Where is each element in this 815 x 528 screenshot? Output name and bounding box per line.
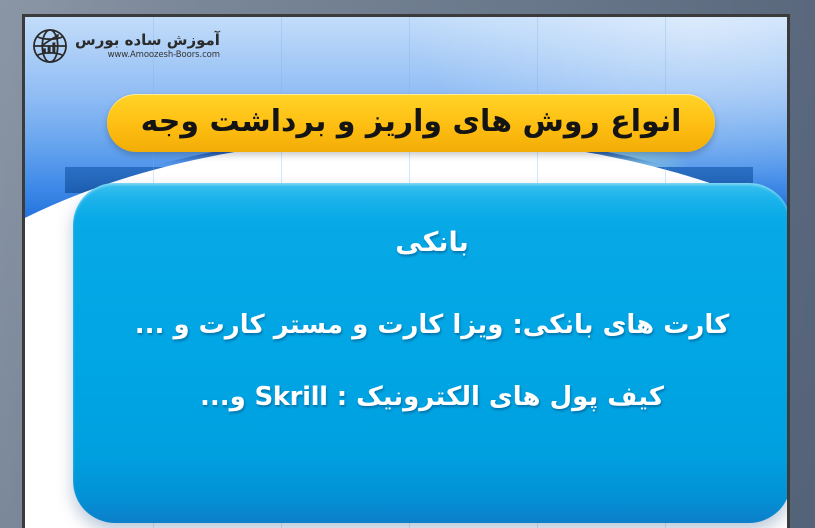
brand-website: www.Amoozesh-Boors.com — [108, 51, 220, 60]
brand-name: آموزش ساده بورس — [75, 33, 220, 48]
slide-title: انواع روش های واریز و برداشت وجه — [141, 104, 682, 143]
brand-logo[interactable]: آموزش ساده بورس www.Amoozesh-Boors.com — [31, 27, 220, 65]
card-heading: بانکی — [395, 227, 468, 258]
desktop-frame: آموزش ساده بورس www.Amoozesh-Boors.com ا… — [0, 0, 815, 528]
content-card: بانکی کارت های بانکی: ویزا کارت و مستر ک… — [73, 183, 790, 523]
slide-title-banner: انواع روش های واریز و برداشت وجه — [107, 94, 715, 152]
presentation-slide: آموزش ساده بورس www.Amoozesh-Boors.com ا… — [22, 14, 790, 528]
card-bullet-2: کیف پول های الکترونیک : Skrill و... — [200, 382, 664, 412]
globe-chart-icon — [31, 27, 69, 65]
card-bullet-1: کارت های بانکی: ویزا کارت و مستر کارت و … — [135, 310, 729, 340]
